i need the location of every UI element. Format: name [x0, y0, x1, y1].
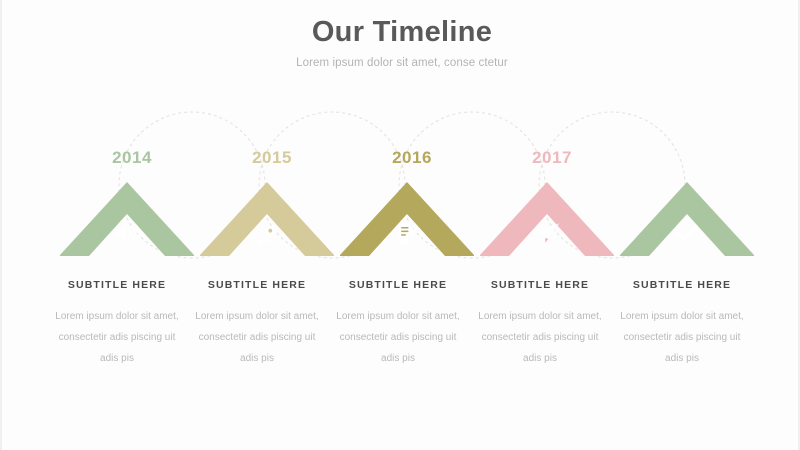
header: Our Timeline Lorem ipsum dolor sit amet,…	[2, 14, 800, 72]
column-subtitle-3: SUBTITLE HERE	[318, 278, 478, 292]
chevron-1[interactable]	[47, 100, 207, 265]
chevron-shape-4	[480, 182, 614, 256]
column-3: SUBTITLE HERE Lorem ipsum dolor sit amet…	[318, 278, 478, 369]
chevron-shape-2	[200, 182, 334, 256]
timeline-chevrons: 2014 2015	[2, 100, 800, 265]
page-subtitle: Lorem ipsum dolor sit amet, conse ctetur	[2, 54, 800, 72]
column-subtitle-5: SUBTITLE HERE	[602, 278, 762, 292]
column-body-5: Lorem ipsum dolor sit amet, consectetir …	[602, 306, 762, 369]
column-body-4: Lorem ipsum dolor sit amet, consectetir …	[460, 306, 620, 369]
column-subtitle-1: SUBTITLE HERE	[37, 278, 197, 292]
column-subtitle-4: SUBTITLE HERE	[460, 278, 620, 292]
column-1: SUBTITLE HERE Lorem ipsum dolor sit amet…	[37, 278, 197, 369]
columns: SUBTITLE HERE Lorem ipsum dolor sit amet…	[2, 278, 800, 398]
chevron-2[interactable]	[187, 100, 347, 265]
chevron-5[interactable]	[607, 100, 767, 265]
column-4: SUBTITLE HERE Lorem ipsum dolor sit amet…	[460, 278, 620, 369]
chevron-shape-1	[60, 182, 194, 256]
chevron-4[interactable]	[467, 100, 627, 265]
chevron-shape-5	[620, 182, 754, 256]
chevron-3[interactable]	[327, 100, 487, 265]
column-body-3: Lorem ipsum dolor sit amet, consectetir …	[318, 306, 478, 369]
chevron-shape-3	[340, 182, 474, 256]
slide-canvas: Our Timeline Lorem ipsum dolor sit amet,…	[0, 0, 800, 450]
column-2: SUBTITLE HERE Lorem ipsum dolor sit amet…	[177, 278, 337, 369]
column-body-1: Lorem ipsum dolor sit amet, consectetir …	[37, 306, 197, 369]
page-title: Our Timeline	[2, 14, 800, 50]
column-subtitle-2: SUBTITLE HERE	[177, 278, 337, 292]
column-body-2: Lorem ipsum dolor sit amet, consectetir …	[177, 306, 337, 369]
column-5: SUBTITLE HERE Lorem ipsum dolor sit amet…	[602, 278, 762, 369]
